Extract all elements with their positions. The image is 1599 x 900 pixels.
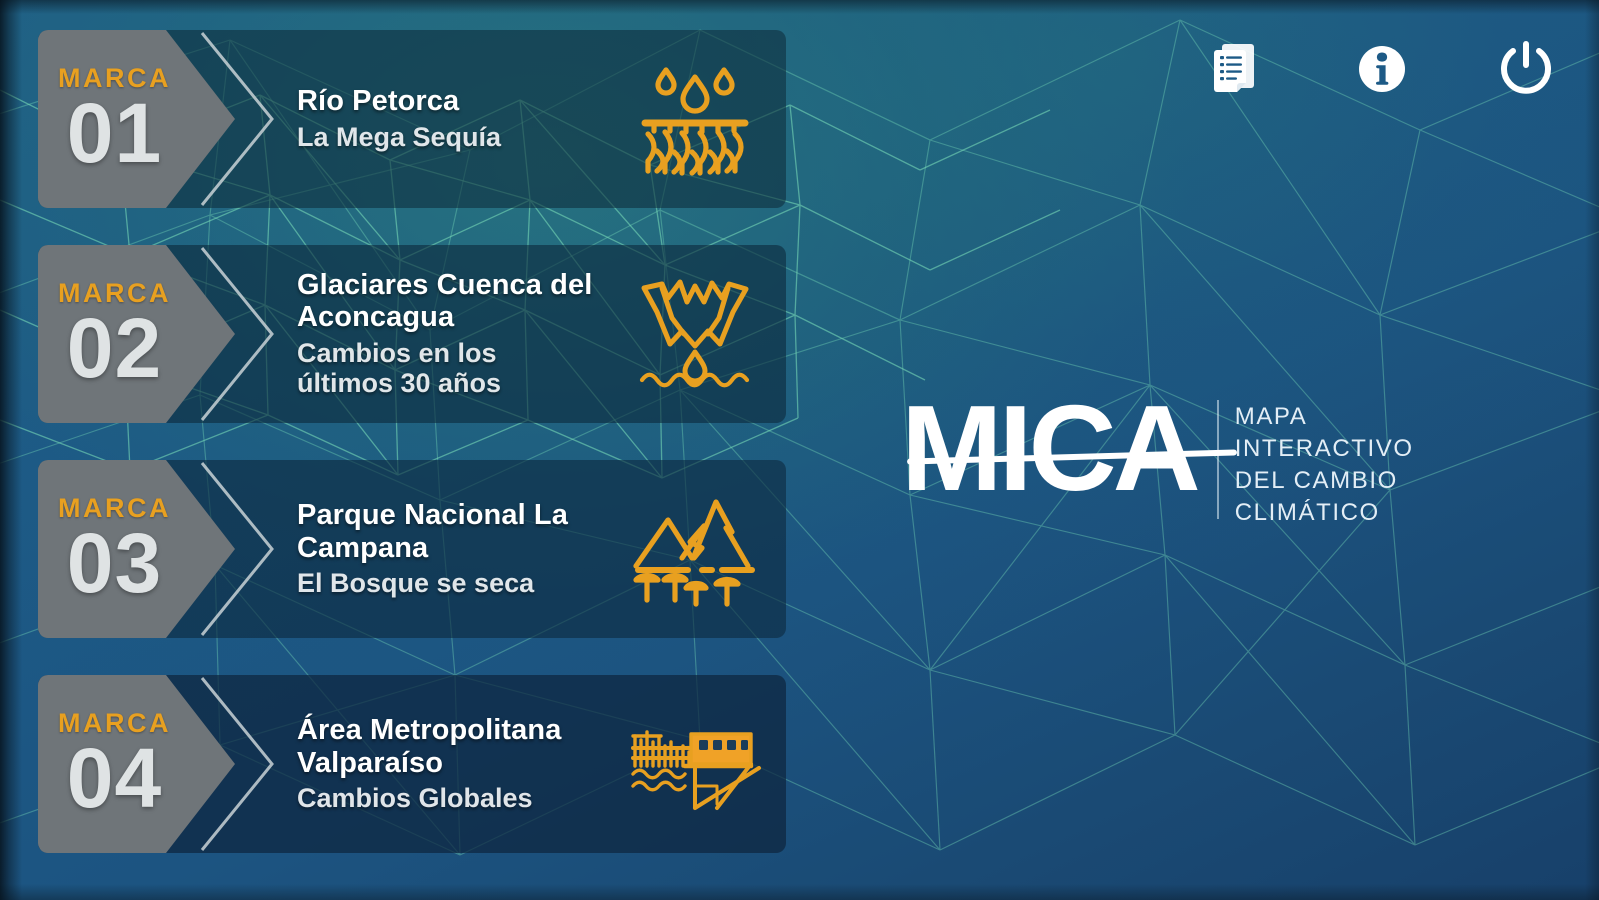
card-text: Área Metropolitana Valparaíso Cambios Gl… [235,675,618,853]
card-title: Área Metropolitana Valparaíso [297,714,618,779]
glacier-waterdrop-icon [618,245,786,423]
card-subtitle: El Bosque se seca [297,568,618,599]
card-title: Glaciares Cuenca del Aconcagua [297,269,618,334]
tagline-line-2: INTERACTIVO [1235,433,1414,465]
document-icon[interactable] [1207,38,1269,100]
card-text: Glaciares Cuenca del Aconcagua Cambios e… [235,245,618,423]
card-text: Parque Nacional La Campana El Bosque se … [235,460,618,638]
card-subtitle-line-1: Cambios en los [297,338,618,369]
marca-card-02[interactable]: MARCA 02 Glaciares Cuenca del Aconcagua … [38,245,786,423]
port-city-icon [618,675,786,853]
mountains-trees-icon [618,460,786,638]
logo-divider [1217,400,1219,519]
marca-card-list: MARCA 01 Río Petorca La Mega Sequía [38,30,786,890]
mica-wordmark: MICA [901,392,1197,504]
tagline-line-4: CLIMÁTICO [1235,497,1414,529]
marca-number: 03 [67,524,162,604]
top-toolbar [1207,38,1557,100]
mica-home-screen: MARCA 01 Río Petorca La Mega Sequía [0,0,1599,900]
card-text: Río Petorca La Mega Sequía [235,30,618,208]
mica-tagline: MAPA INTERACTIVO DEL CAMBIO CLIMÁTICO [1235,392,1414,529]
card-subtitle: Cambios en los últimos 30 años [297,338,618,400]
card-subtitle: Cambios Globales [297,783,618,814]
card-title: Parque Nacional La Campana [297,499,618,564]
marca-number: 02 [67,309,162,389]
marca-card-03[interactable]: MARCA 03 Parque Nacional La Campana El B… [38,460,786,638]
card-subtitle: La Mega Sequía [297,122,618,153]
card-title: Río Petorca [297,85,618,117]
tagline-line-3: DEL CAMBIO [1235,465,1414,497]
drought-drops-cracked-earth-icon [618,30,786,208]
mica-word: MICA [901,392,1197,504]
info-icon[interactable] [1351,38,1413,100]
marca-number: 04 [67,739,162,819]
tagline-line-1: MAPA [1235,401,1414,433]
mica-logo: MICA MAPA INTERACTIVO DEL CAMBIO CLIMÁTI… [901,392,1414,529]
power-icon[interactable] [1495,38,1557,100]
marca-card-01[interactable]: MARCA 01 Río Petorca La Mega Sequía [38,30,786,208]
card-subtitle-line-2: últimos 30 años [297,368,618,399]
marca-number: 01 [67,94,162,174]
marca-card-04[interactable]: MARCA 04 Área Metropolitana Valparaíso C… [38,675,786,853]
